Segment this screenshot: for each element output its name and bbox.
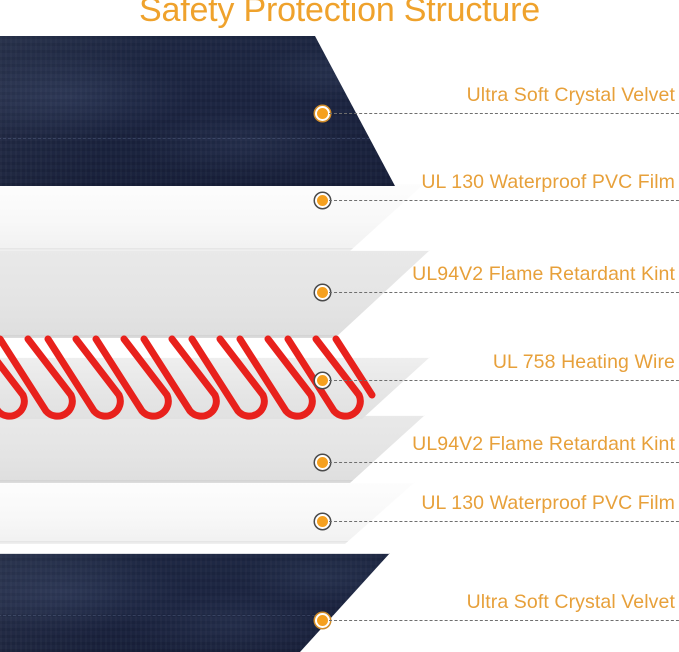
callout-marker-icon[interactable]	[315, 193, 330, 208]
callout-label: UL 758 Heating Wire	[493, 351, 675, 374]
callout-leader-line	[329, 113, 679, 114]
callout-label: Ultra Soft Crystal Velvet	[467, 84, 675, 107]
layer-highlight-edge	[0, 553, 390, 554]
knit-surface-bottom	[0, 415, 425, 483]
callout-leader-line	[329, 200, 679, 201]
callout-label: UL94V2 Flame Retardant Kint	[412, 433, 675, 456]
callout-marker-icon[interactable]	[315, 285, 330, 300]
wire-bed-surface	[0, 357, 430, 419]
layer-knit-bottom	[0, 415, 425, 483]
callout-leader-line	[329, 620, 679, 621]
callout-marker-icon[interactable]	[315, 373, 330, 388]
velvet-stitch-line	[0, 138, 410, 140]
layer-velvet-top	[0, 36, 410, 186]
callout-leader-line	[329, 380, 679, 381]
layer-pvc-bottom	[0, 482, 415, 544]
callout-leader-line	[329, 521, 679, 522]
pvc-surface-bottom	[0, 482, 415, 544]
velvet-texture-bottom	[0, 553, 390, 652]
callout-label: UL 130 Waterproof PVC Film	[421, 492, 675, 515]
callout-marker-icon[interactable]	[315, 613, 330, 628]
velvet-texture-top	[0, 36, 410, 186]
layer-knit-top	[0, 250, 430, 338]
layer-shadow-edge	[0, 335, 430, 338]
callout-marker-icon[interactable]	[315, 514, 330, 529]
knit-surface-top	[0, 250, 430, 338]
pvc-surface-top	[0, 183, 425, 251]
page-title: Safety Protection Structure	[0, 0, 679, 30]
layer-shadow-edge	[0, 183, 410, 186]
callout-leader-line	[329, 462, 679, 463]
callout-label: UL94V2 Flame Retardant Kint	[412, 263, 675, 286]
layer-velvet-bottom	[0, 553, 390, 652]
callout-marker-icon[interactable]	[315, 106, 330, 121]
safety-structure-infographic: Safety Protection Structure Ultra Soft C…	[0, 0, 679, 652]
layer-wire-bed	[0, 357, 430, 419]
callout-label: Ultra Soft Crystal Velvet	[467, 591, 675, 614]
layer-shadow-edge	[0, 541, 415, 544]
layer-highlight-edge	[0, 357, 430, 358]
callout-marker-icon[interactable]	[315, 455, 330, 470]
layer-pvc-top	[0, 183, 425, 251]
velvet-stitch-line	[0, 615, 390, 617]
callout-label: UL 130 Waterproof PVC Film	[421, 171, 675, 194]
callout-leader-line	[329, 292, 679, 293]
